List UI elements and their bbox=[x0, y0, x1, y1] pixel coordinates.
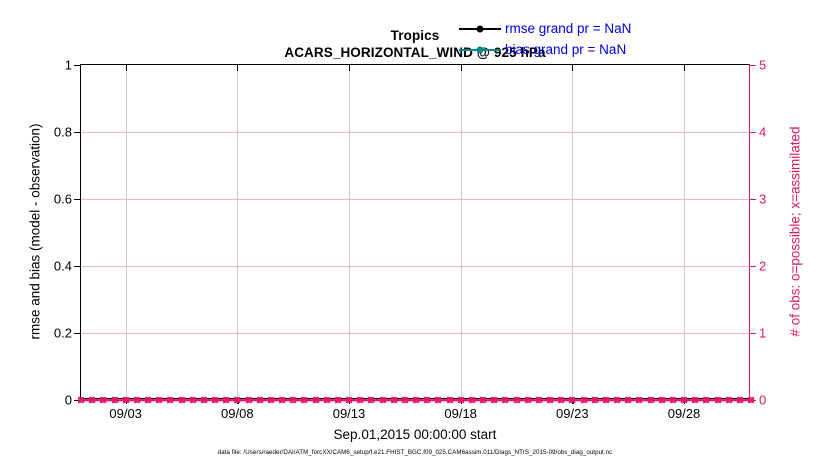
title-line-1: Tropics bbox=[80, 27, 750, 44]
obs-marker-assimilated bbox=[289, 396, 297, 404]
obs-marker-assimilated bbox=[300, 396, 308, 404]
obs-marker-possible bbox=[536, 397, 542, 403]
obs-marker-possible bbox=[89, 397, 95, 403]
y-tick-right bbox=[749, 333, 756, 334]
obs-marker-assimilated bbox=[200, 396, 208, 404]
gridline-horizontal bbox=[81, 333, 749, 334]
y-tick-left bbox=[74, 65, 81, 66]
obs-marker-assimilated bbox=[669, 396, 677, 404]
legend-label-rmse: rmse grand pr = NaN bbox=[505, 21, 631, 36]
y-axis-title-left: rmse and bias (model - observation) bbox=[26, 64, 44, 399]
obs-marker-possible bbox=[703, 397, 709, 403]
obs-marker-possible bbox=[290, 397, 296, 403]
x-tick bbox=[572, 398, 573, 404]
obs-marker-possible bbox=[558, 397, 564, 403]
obs-marker-possible bbox=[715, 397, 721, 403]
y-axis-title-right-text: # of obs: o=possible; x=assimilated bbox=[788, 126, 803, 336]
obs-marker-assimilated bbox=[580, 396, 588, 404]
obs-marker-possible bbox=[357, 397, 363, 403]
obs-marker-assimilated bbox=[111, 396, 119, 404]
x-tick-label: 09/28 bbox=[668, 406, 701, 421]
gridline-horizontal bbox=[81, 132, 749, 133]
obs-marker-assimilated bbox=[155, 396, 163, 404]
y-tick-label-left: 0.6 bbox=[54, 192, 72, 207]
obs-marker-assimilated bbox=[189, 396, 197, 404]
y-tick-left bbox=[74, 199, 81, 200]
obs-marker-assimilated bbox=[591, 396, 599, 404]
obs-marker-possible bbox=[737, 397, 743, 403]
obs-marker-assimilated bbox=[691, 396, 699, 404]
obs-marker-assimilated bbox=[501, 396, 509, 404]
obs-marker-assimilated bbox=[323, 396, 331, 404]
obs-marker-possible bbox=[156, 397, 162, 403]
obs-marker-possible bbox=[547, 397, 553, 403]
obs-marker-possible bbox=[301, 397, 307, 403]
obs-marker-possible bbox=[100, 397, 106, 403]
obs-marker-possible bbox=[480, 397, 486, 403]
obs-marker-assimilated bbox=[446, 396, 454, 404]
title-line-2: ACARS_HORIZONTAL_WIND @ 925 hPa bbox=[80, 44, 750, 61]
obs-marker-possible bbox=[201, 397, 207, 403]
x-tick-label: 09/18 bbox=[444, 406, 477, 421]
obs-marker-possible bbox=[514, 397, 520, 403]
gridline-vertical bbox=[349, 65, 350, 398]
obs-marker-assimilated bbox=[256, 396, 264, 404]
obs-marker-assimilated bbox=[647, 396, 655, 404]
obs-marker-possible bbox=[447, 397, 453, 403]
y-tick-label-left: 0.4 bbox=[54, 259, 72, 274]
legend-marker-bias-icon bbox=[459, 44, 501, 56]
gridline-horizontal bbox=[81, 266, 749, 267]
obs-series-line bbox=[81, 399, 751, 401]
gridline-horizontal bbox=[81, 199, 749, 200]
obs-marker-assimilated bbox=[334, 396, 342, 404]
obs-marker-possible bbox=[648, 397, 654, 403]
obs-marker-assimilated bbox=[401, 396, 409, 404]
obs-marker-possible bbox=[145, 397, 151, 403]
obs-marker-assimilated bbox=[390, 396, 398, 404]
x-tick-top bbox=[349, 65, 350, 71]
x-tick-top bbox=[684, 65, 685, 71]
y-tick-label-left: 0.8 bbox=[54, 125, 72, 140]
obs-marker-possible bbox=[223, 397, 229, 403]
gridline-vertical bbox=[461, 65, 462, 398]
obs-marker-assimilated bbox=[702, 396, 710, 404]
obs-marker-assimilated bbox=[490, 396, 498, 404]
y-tick-right bbox=[749, 400, 756, 401]
y-tick-right bbox=[749, 199, 756, 200]
y-tick-left bbox=[74, 132, 81, 133]
obs-marker-assimilated bbox=[166, 396, 174, 404]
obs-marker-assimilated bbox=[178, 396, 186, 404]
obs-marker-possible bbox=[413, 397, 419, 403]
obs-marker-possible bbox=[112, 397, 118, 403]
obs-marker-possible bbox=[614, 397, 620, 403]
y-axis-title-left-text: rmse and bias (model - observation) bbox=[28, 123, 43, 339]
obs-marker-assimilated bbox=[278, 396, 286, 404]
chart-title: Tropics ACARS_HORIZONTAL_WIND @ 925 hPa bbox=[80, 27, 750, 62]
obs-marker-possible bbox=[726, 397, 732, 403]
obs-marker-assimilated bbox=[423, 396, 431, 404]
legend-label-bias: bias grand pr = NaN bbox=[505, 42, 626, 57]
x-tick-label: 09/13 bbox=[333, 406, 366, 421]
y-tick-label-left: 1 bbox=[65, 58, 72, 73]
obs-marker-possible bbox=[525, 397, 531, 403]
obs-marker-assimilated bbox=[546, 396, 554, 404]
gridline-vertical bbox=[684, 65, 685, 398]
obs-marker-assimilated bbox=[412, 396, 420, 404]
gridline-vertical bbox=[572, 65, 573, 398]
obs-marker-possible bbox=[368, 397, 374, 403]
obs-marker-possible bbox=[402, 397, 408, 403]
gridline-vertical bbox=[126, 65, 127, 398]
obs-marker-possible bbox=[179, 397, 185, 403]
obs-marker-possible bbox=[279, 397, 285, 403]
obs-marker-assimilated bbox=[479, 396, 487, 404]
obs-series-line bbox=[81, 399, 751, 401]
x-tick-top bbox=[237, 65, 238, 71]
legend-item-bias: bias grand pr = NaN bbox=[459, 41, 631, 58]
x-tick-label: 09/23 bbox=[556, 406, 589, 421]
obs-marker-possible bbox=[435, 397, 441, 403]
obs-marker-possible bbox=[391, 397, 397, 403]
obs-marker-assimilated bbox=[222, 396, 230, 404]
obs-marker-possible bbox=[692, 397, 698, 403]
obs-marker-assimilated bbox=[602, 396, 610, 404]
obs-marker-assimilated bbox=[736, 396, 744, 404]
obs-marker-assimilated bbox=[434, 396, 442, 404]
x-axis-title: Sep.01,2015 00:00:00 start bbox=[80, 427, 750, 442]
obs-marker-possible bbox=[603, 397, 609, 403]
legend-marker-rmse-icon bbox=[459, 23, 501, 35]
obs-marker-assimilated bbox=[714, 396, 722, 404]
obs-marker-assimilated bbox=[468, 396, 476, 404]
obs-marker-assimilated bbox=[367, 396, 375, 404]
obs-marker-possible bbox=[424, 397, 430, 403]
obs-marker-possible bbox=[636, 397, 642, 403]
obs-marker-assimilated bbox=[557, 396, 565, 404]
obs-marker-possible bbox=[134, 397, 140, 403]
obs-marker-assimilated bbox=[267, 396, 275, 404]
legend-item-rmse: rmse grand pr = NaN bbox=[459, 20, 631, 37]
x-tick bbox=[461, 398, 462, 404]
x-tick-top bbox=[126, 65, 127, 71]
y-tick-label-right: 5 bbox=[759, 58, 766, 73]
obs-marker-possible bbox=[313, 397, 319, 403]
y-tick-label-right: 4 bbox=[759, 125, 766, 140]
obs-marker-possible bbox=[670, 397, 676, 403]
obs-marker-possible bbox=[324, 397, 330, 403]
obs-marker-possible bbox=[581, 397, 587, 403]
obs-marker-assimilated bbox=[635, 396, 643, 404]
obs-marker-possible bbox=[659, 397, 665, 403]
y-tick-right bbox=[749, 132, 756, 133]
x-tick bbox=[237, 398, 238, 404]
x-tick bbox=[684, 398, 685, 404]
data-markers-layer bbox=[81, 65, 749, 398]
obs-marker-possible bbox=[246, 397, 252, 403]
obs-marker-possible bbox=[212, 397, 218, 403]
obs-marker-assimilated bbox=[725, 396, 733, 404]
obs-marker-possible bbox=[502, 397, 508, 403]
obs-marker-assimilated bbox=[88, 396, 96, 404]
obs-marker-possible bbox=[491, 397, 497, 403]
y-tick-right bbox=[749, 266, 756, 267]
y-tick-left bbox=[74, 266, 81, 267]
x-tick-top bbox=[572, 65, 573, 71]
y-tick-label-right: 2 bbox=[759, 259, 766, 274]
obs-marker-assimilated bbox=[535, 396, 543, 404]
obs-marker-possible bbox=[190, 397, 196, 403]
obs-marker-assimilated bbox=[356, 396, 364, 404]
obs-marker-assimilated bbox=[658, 396, 666, 404]
y-tick-label-left: 0.2 bbox=[54, 326, 72, 341]
obs-marker-assimilated bbox=[613, 396, 621, 404]
obs-marker-assimilated bbox=[144, 396, 152, 404]
y-tick-label-left: 0 bbox=[65, 393, 72, 408]
x-tick bbox=[349, 398, 350, 404]
obs-marker-possible bbox=[592, 397, 598, 403]
y-axis-title-right: # of obs: o=possible; x=assimilated bbox=[786, 64, 804, 399]
obs-marker-assimilated bbox=[133, 396, 141, 404]
x-tick-label: 09/08 bbox=[221, 406, 254, 421]
obs-marker-assimilated bbox=[245, 396, 253, 404]
obs-marker-assimilated bbox=[312, 396, 320, 404]
obs-marker-assimilated bbox=[99, 396, 107, 404]
obs-marker-assimilated bbox=[379, 396, 387, 404]
obs-marker-possible bbox=[268, 397, 274, 403]
obs-marker-assimilated bbox=[624, 396, 632, 404]
obs-marker-assimilated bbox=[513, 396, 521, 404]
y-tick-right bbox=[749, 65, 756, 66]
obs-marker-assimilated bbox=[211, 396, 219, 404]
obs-marker-possible bbox=[257, 397, 263, 403]
y-tick-label-right: 0 bbox=[759, 393, 766, 408]
x-tick bbox=[126, 398, 127, 404]
obs-marker-assimilated bbox=[524, 396, 532, 404]
y-tick-label-right: 3 bbox=[759, 192, 766, 207]
y-tick-label-right: 1 bbox=[759, 326, 766, 341]
plot-area: 09/0309/0809/1309/1809/2309/2800.20.40.6… bbox=[80, 64, 750, 399]
y-tick-left bbox=[74, 400, 81, 401]
data-file-footer: data file: /Users/raeder/DAI/ATM_forcXX/… bbox=[0, 449, 830, 456]
gridline-vertical bbox=[237, 65, 238, 398]
obs-marker-possible bbox=[469, 397, 475, 403]
chart-legend: rmse grand pr = NaN bias grand pr = NaN bbox=[459, 20, 631, 58]
x-tick-label: 09/03 bbox=[109, 406, 142, 421]
x-tick-top bbox=[461, 65, 462, 71]
obs-marker-possible bbox=[380, 397, 386, 403]
chart-figure: Tropics ACARS_HORIZONTAL_WIND @ 925 hPa … bbox=[0, 0, 830, 470]
obs-marker-possible bbox=[625, 397, 631, 403]
obs-marker-possible bbox=[167, 397, 173, 403]
y-tick-left bbox=[74, 333, 81, 334]
obs-marker-possible bbox=[335, 397, 341, 403]
